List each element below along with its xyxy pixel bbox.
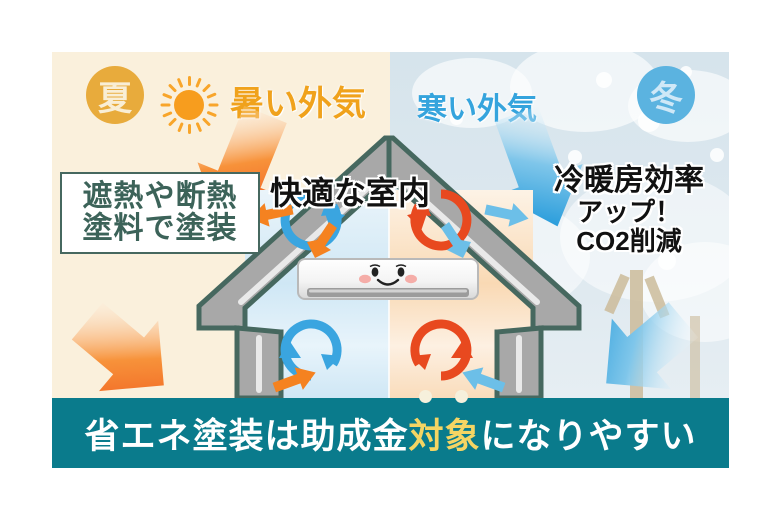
right-text-line2: アップ！ bbox=[530, 198, 728, 227]
infographic-canvas: 夏 冬 暑い外気 寒い外気 bbox=[0, 0, 780, 520]
summer-heat-arrow-wall bbox=[58, 286, 194, 398]
banner-text-highlight: 対象 bbox=[408, 408, 480, 459]
banner-text-after: になりやすい bbox=[481, 408, 697, 459]
right-text-line1: 冷暖房効率 bbox=[530, 164, 728, 198]
banner-highlight-label: 対象 bbox=[408, 417, 480, 456]
emphasis-dot bbox=[419, 390, 432, 403]
illustration-area: 夏 冬 暑い外気 寒い外気 bbox=[52, 52, 729, 468]
emphasis-dot bbox=[455, 390, 468, 403]
left-callout-box: 遮熱や断熱 塗料で塗装 bbox=[60, 172, 260, 254]
bottom-banner: 省エネ塗装は助成金対象になりやすい bbox=[52, 398, 729, 468]
winter-cold-arrow-wall bbox=[577, 284, 713, 398]
air-conditioner-unit bbox=[297, 258, 479, 308]
right-benefit-text: 冷暖房効率 アップ！ CO2削減 bbox=[530, 164, 728, 256]
interior-comfort-label: 快適な室内 bbox=[270, 168, 430, 214]
right-text-line3: CO2削減 bbox=[530, 227, 728, 256]
bottom-banner-text: 省エネ塗装は助成金対象になりやすい bbox=[52, 398, 729, 468]
banner-text-before: 省エネ塗装は助成金 bbox=[84, 408, 408, 459]
left-callout-line1: 遮熱や断熱 bbox=[83, 181, 238, 213]
left-callout-line2: 塗料で塗装 bbox=[83, 213, 238, 245]
